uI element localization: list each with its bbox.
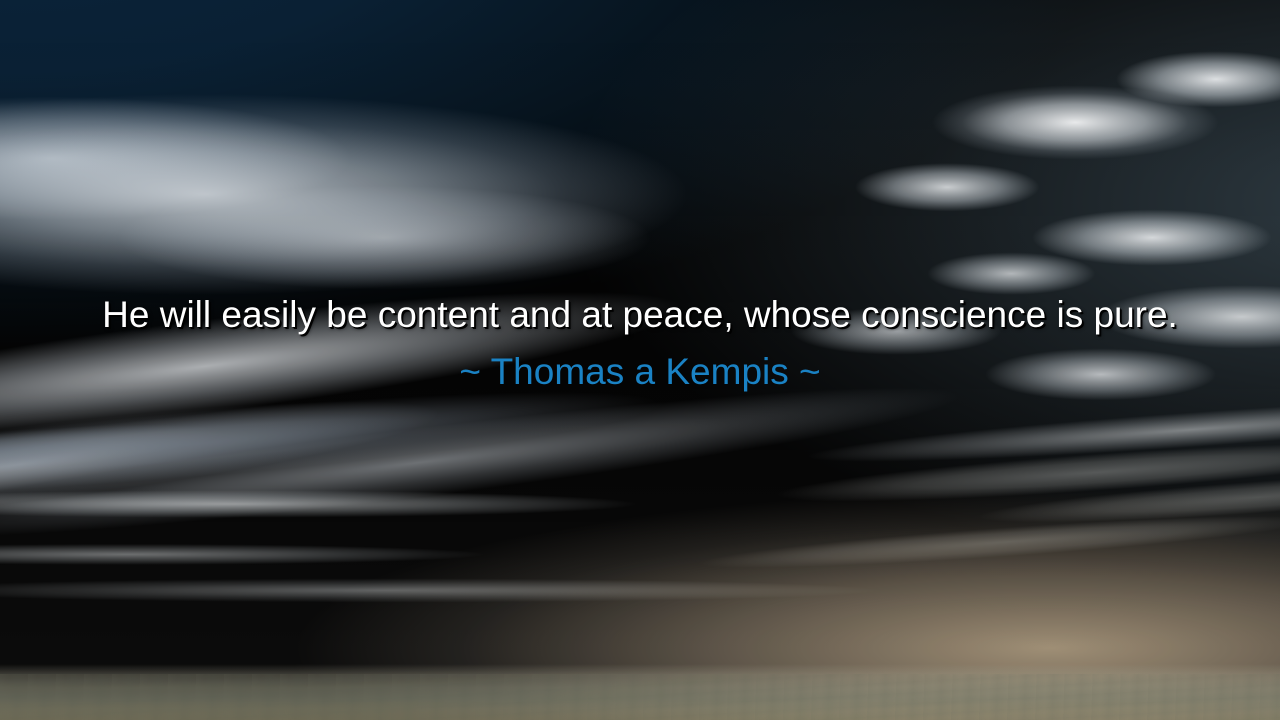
quote-image-canvas: He will easily be content and at peace, …	[0, 0, 1280, 720]
quote-overlay: He will easily be content and at peace, …	[96, 290, 1184, 394]
ground-terrain-texture	[0, 674, 1280, 720]
quote-attribution: ~ Thomas a Kempis ~	[96, 350, 1184, 394]
quote-text: He will easily be content and at peace, …	[96, 290, 1184, 339]
ground-haze-band	[0, 664, 1280, 720]
